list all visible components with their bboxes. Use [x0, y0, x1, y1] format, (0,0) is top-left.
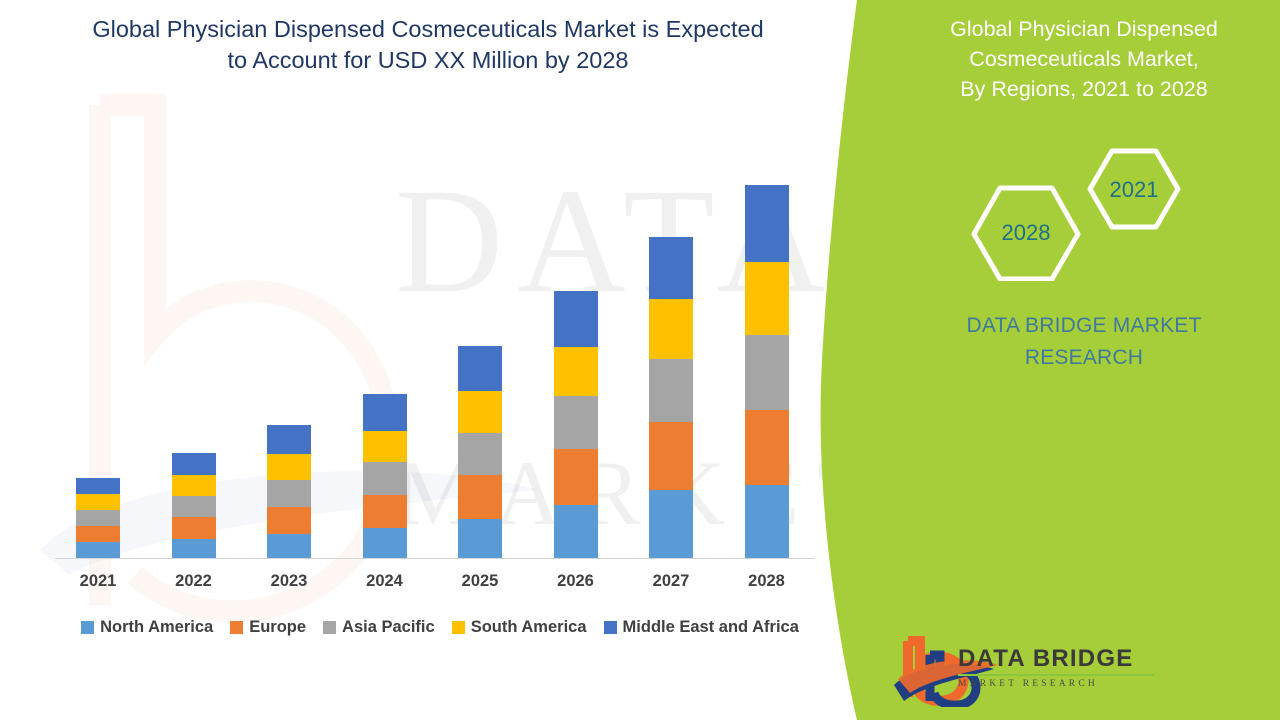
bar-segment-asia-pacific	[172, 496, 216, 517]
x-axis-label-2026: 2026	[531, 572, 621, 591]
x-axis-label-2028: 2028	[722, 572, 812, 591]
bar-segment-europe	[172, 517, 216, 539]
legend-swatch-icon	[323, 621, 336, 634]
x-axis-label-2025: 2025	[435, 572, 525, 591]
bar-segment-europe	[363, 495, 407, 528]
legend-swatch-icon	[604, 621, 617, 634]
legend-label: South America	[471, 618, 587, 637]
stacked-bar-chart: 20212022202320242025202620272028	[0, 0, 860, 720]
bar-segment-middle-east-and-africa	[363, 394, 407, 431]
right-panel-title-line-3: By Regions, 2021 to 2028	[890, 74, 1278, 104]
logo-sub-text: MARKET RESEARCH	[958, 679, 1188, 689]
bar-segment-asia-pacific	[458, 433, 502, 475]
bar-segment-middle-east-and-africa	[76, 478, 120, 494]
bar-2023	[267, 425, 311, 558]
hexagon-label-2028: 2028	[996, 220, 1056, 246]
chart-legend: North AmericaEuropeAsia PacificSouth Ame…	[55, 618, 825, 637]
bar-segment-north-america	[649, 490, 693, 558]
x-axis-line	[55, 558, 815, 559]
bar-segment-south-america	[76, 494, 120, 510]
brand-name-line-2: RESEARCH	[890, 342, 1278, 374]
bar-segment-asia-pacific	[76, 510, 120, 526]
x-axis-label-2024: 2024	[340, 572, 430, 591]
chart-panel: Global Physician Dispensed Cosmeceutical…	[0, 0, 860, 720]
bar-segment-north-america	[267, 534, 311, 558]
bar-segment-middle-east-and-africa	[649, 237, 693, 299]
bar-segment-north-america	[172, 539, 216, 558]
bar-segment-middle-east-and-africa	[745, 185, 789, 262]
bar-2024	[363, 394, 407, 558]
legend-swatch-icon	[81, 621, 94, 634]
bar-segment-europe	[649, 422, 693, 490]
right-panel-title-line-2: Cosmeceuticals Market,	[890, 44, 1278, 74]
legend-label: Middle East and Africa	[623, 618, 799, 637]
bar-segment-europe	[745, 410, 789, 485]
legend-item-south-america[interactable]: South America	[452, 618, 587, 637]
bar-segment-south-america	[745, 262, 789, 335]
bar-segment-south-america	[649, 299, 693, 359]
data-bridge-logo-text: DATA BRIDGE MARKET RESEARCH	[958, 645, 1188, 689]
bar-2028	[745, 185, 789, 558]
bar-segment-north-america	[363, 528, 407, 558]
year-hexagons: 2021 2028	[960, 146, 1190, 281]
x-axis-label-2021: 2021	[53, 572, 143, 591]
legend-item-north-america[interactable]: North America	[81, 618, 213, 637]
bar-segment-south-america	[554, 347, 598, 396]
x-axis-label-2022: 2022	[149, 572, 239, 591]
bar-segment-middle-east-and-africa	[172, 453, 216, 475]
legend-label: North America	[100, 618, 213, 637]
bar-segment-europe	[458, 475, 502, 519]
legend-item-asia-pacific[interactable]: Asia Pacific	[323, 618, 435, 637]
right-panel-content: Global Physician Dispensed Cosmeceutical…	[880, 0, 1280, 720]
bar-2021	[76, 478, 120, 558]
right-panel-title-line-1: Global Physician Dispensed	[890, 14, 1278, 44]
bar-2025	[458, 346, 502, 558]
right-panel-title: Global Physician Dispensed Cosmeceutical…	[890, 14, 1278, 104]
brand-name-line-1: DATA BRIDGE MARKET	[890, 310, 1278, 342]
bar-segment-asia-pacific	[267, 480, 311, 507]
bar-2027	[649, 237, 693, 558]
bar-segment-north-america	[458, 519, 502, 558]
x-axis-label-2023: 2023	[244, 572, 334, 591]
logo-divider	[958, 674, 1154, 676]
bar-segment-asia-pacific	[745, 335, 789, 410]
hexagon-label-2021: 2021	[1104, 177, 1164, 203]
legend-item-europe[interactable]: Europe	[230, 618, 306, 637]
bar-segment-north-america	[745, 485, 789, 558]
bar-segment-middle-east-and-africa	[554, 291, 598, 347]
bar-segment-europe	[267, 507, 311, 534]
bar-segment-asia-pacific	[649, 359, 693, 422]
bar-2022	[172, 453, 216, 558]
legend-item-middle-east-and-africa[interactable]: Middle East and Africa	[604, 618, 799, 637]
bar-segment-south-america	[172, 475, 216, 496]
bar-segment-south-america	[458, 391, 502, 433]
bar-segment-south-america	[363, 431, 407, 462]
bar-segment-middle-east-and-africa	[458, 346, 502, 391]
bar-segment-europe	[76, 526, 120, 542]
bar-segment-asia-pacific	[554, 396, 598, 449]
brand-name: DATA BRIDGE MARKET RESEARCH	[890, 310, 1278, 374]
legend-swatch-icon	[452, 621, 465, 634]
bar-segment-europe	[554, 449, 598, 505]
bar-segment-south-america	[267, 454, 311, 480]
legend-swatch-icon	[230, 621, 243, 634]
legend-label: Asia Pacific	[342, 618, 435, 637]
bar-segment-north-america	[76, 542, 120, 558]
bar-segment-north-america	[554, 505, 598, 558]
bar-segment-asia-pacific	[363, 462, 407, 495]
bar-2026	[554, 291, 598, 558]
bar-segment-middle-east-and-africa	[267, 425, 311, 454]
legend-label: Europe	[249, 618, 306, 637]
hexagon-outlines-icon	[960, 146, 1190, 281]
logo-main-text: DATA BRIDGE	[958, 645, 1188, 673]
x-axis-label-2027: 2027	[626, 572, 716, 591]
